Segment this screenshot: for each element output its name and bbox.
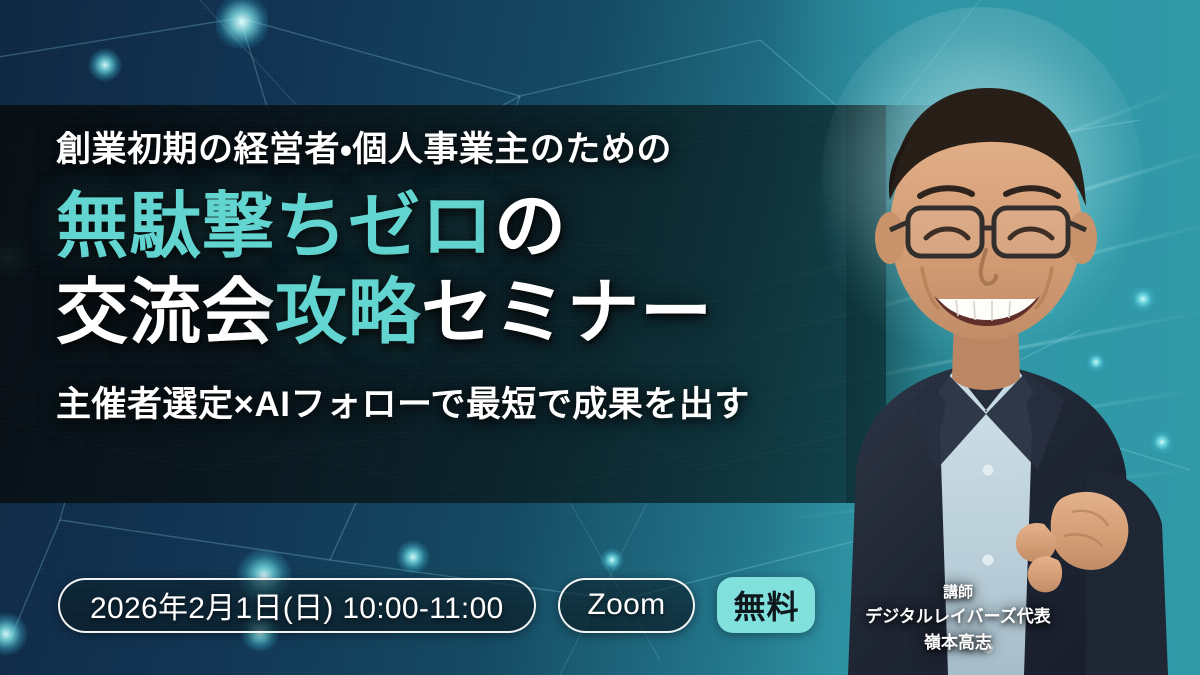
- headline-highlight-2: 攻略: [275, 273, 421, 353]
- platform-badge: Zoom: [558, 578, 696, 633]
- headline-block: 創業初期の経営者・個人事業主のための 無駄撃ちゼロの 交流会攻略セミナー 主催者…: [56, 128, 856, 427]
- date-badge: 2026年2月1日(日) 10:00-11:00: [58, 578, 536, 633]
- seminar-banner: 創業初期の経営者・個人事業主のための 無駄撃ちゼロの 交流会攻略セミナー 主催者…: [0, 0, 1200, 675]
- speaker-organization: デジタルレイバーズ代表: [828, 604, 1088, 630]
- headline: 無駄撃ちゼロの 交流会攻略セミナー: [56, 186, 856, 354]
- headline-plain-2a: 交流会: [56, 273, 275, 353]
- speaker-name: 嶺本高志: [828, 630, 1088, 656]
- badge-row: 2026年2月1日(日) 10:00-11:00 Zoom 無料: [58, 577, 815, 633]
- subline-text: 主催者選定×AIフォローで最短で成果を出す: [56, 376, 856, 427]
- headline-line-2: 交流会攻略セミナー: [56, 272, 856, 354]
- price-badge: 無料: [717, 577, 815, 633]
- kicker-text: 創業初期の経営者・個人事業主のための: [56, 128, 856, 172]
- speaker-role: 講師: [828, 582, 1088, 605]
- headline-plain-1: の: [494, 187, 567, 267]
- speaker-credit: 講師 デジタルレイバーズ代表 嶺本高志: [828, 582, 1088, 656]
- headline-line-1: 無駄撃ちゼロの: [56, 187, 567, 267]
- headline-plain-2b: セミナー: [421, 273, 713, 353]
- headline-highlight-1: 無駄撃ちゼロ: [56, 187, 494, 267]
